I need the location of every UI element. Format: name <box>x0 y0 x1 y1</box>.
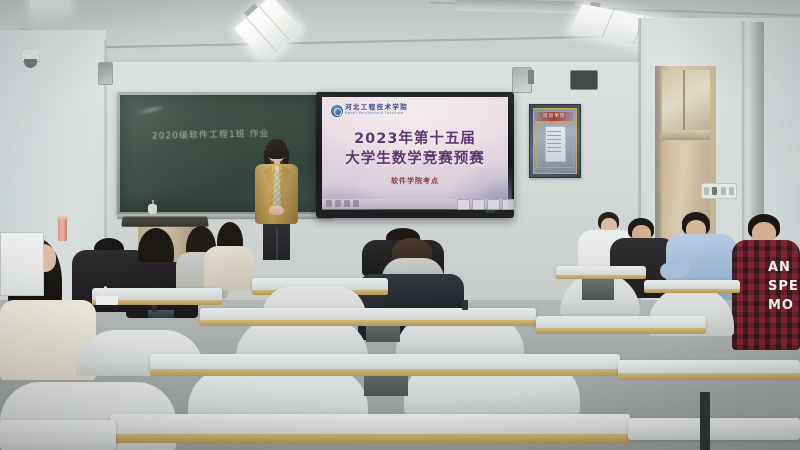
door-window <box>662 70 710 136</box>
desk-edge <box>536 328 706 334</box>
slide-title-line2: 大学生数学竞赛预赛 <box>322 150 508 168</box>
eraser-tool-icon <box>335 200 341 207</box>
home-button-icon <box>472 199 485 210</box>
proctor-trouser-seam <box>276 228 278 260</box>
slide-tools-right[interactable] <box>457 199 515 210</box>
desk-edge <box>618 373 800 380</box>
proctor-blazer-shading <box>255 164 298 224</box>
proctor-hands <box>269 206 284 215</box>
close-button-icon <box>502 199 515 210</box>
wall-speaker-icon <box>98 62 113 85</box>
desk-surface <box>0 420 116 450</box>
light-switch-panel[interactable] <box>701 183 737 199</box>
wall-speaker-icon <box>570 70 598 90</box>
student-torso <box>204 246 254 290</box>
door-mullion <box>683 70 685 136</box>
proctor-hair <box>266 139 287 159</box>
desk-leg <box>700 392 710 450</box>
lectern-top <box>121 216 209 226</box>
certificate-title: 班级荣誉 <box>535 112 573 121</box>
jacket-text-line2: SPE <box>768 277 800 296</box>
whiteboard <box>0 232 44 296</box>
back-button-icon <box>457 199 470 210</box>
paper-sheet <box>96 296 118 305</box>
menu-button-icon <box>487 199 500 210</box>
slide-tools-left[interactable] <box>326 200 359 207</box>
desk-edge <box>200 320 536 326</box>
desk-edge <box>110 434 630 443</box>
jacket-text-line3: MO <box>768 296 800 314</box>
jacket-text: AN SPE MO <box>768 258 800 314</box>
microphone-icon <box>148 204 157 214</box>
pen-tool-icon <box>326 200 332 207</box>
power-indicator-icon <box>486 210 495 213</box>
institution-emblem-icon <box>330 104 344 118</box>
pointer-tool-icon <box>344 200 350 207</box>
classroom-scene: 班级荣誉 2020级软件工程1班 作业 河北工程技术学院 Hebei Polyt… <box>0 0 800 450</box>
desk-edge <box>150 369 620 376</box>
travel-mug <box>58 219 67 241</box>
desk-surface <box>628 418 800 440</box>
blackboard-glare <box>120 95 330 212</box>
desk-clip <box>152 305 157 312</box>
slide-subtitle: 软件学院考点 <box>322 176 508 186</box>
desk-clip <box>462 300 468 310</box>
desk-edge <box>644 289 740 293</box>
desk-edge <box>556 275 646 279</box>
institution-name-cn: 河北工程技术学院 <box>345 103 408 111</box>
shape-tool-icon <box>353 200 359 207</box>
pillar-highlight <box>744 22 749 272</box>
desk-opening <box>582 276 614 300</box>
door-rail <box>662 130 710 140</box>
jacket-text-line1: AN <box>768 258 800 277</box>
slide-title-line1: 2023年第十五届 <box>322 130 508 148</box>
institution-name-en: Hebei Polytechnic Institute <box>345 111 404 116</box>
speaker-bracket <box>528 70 534 84</box>
